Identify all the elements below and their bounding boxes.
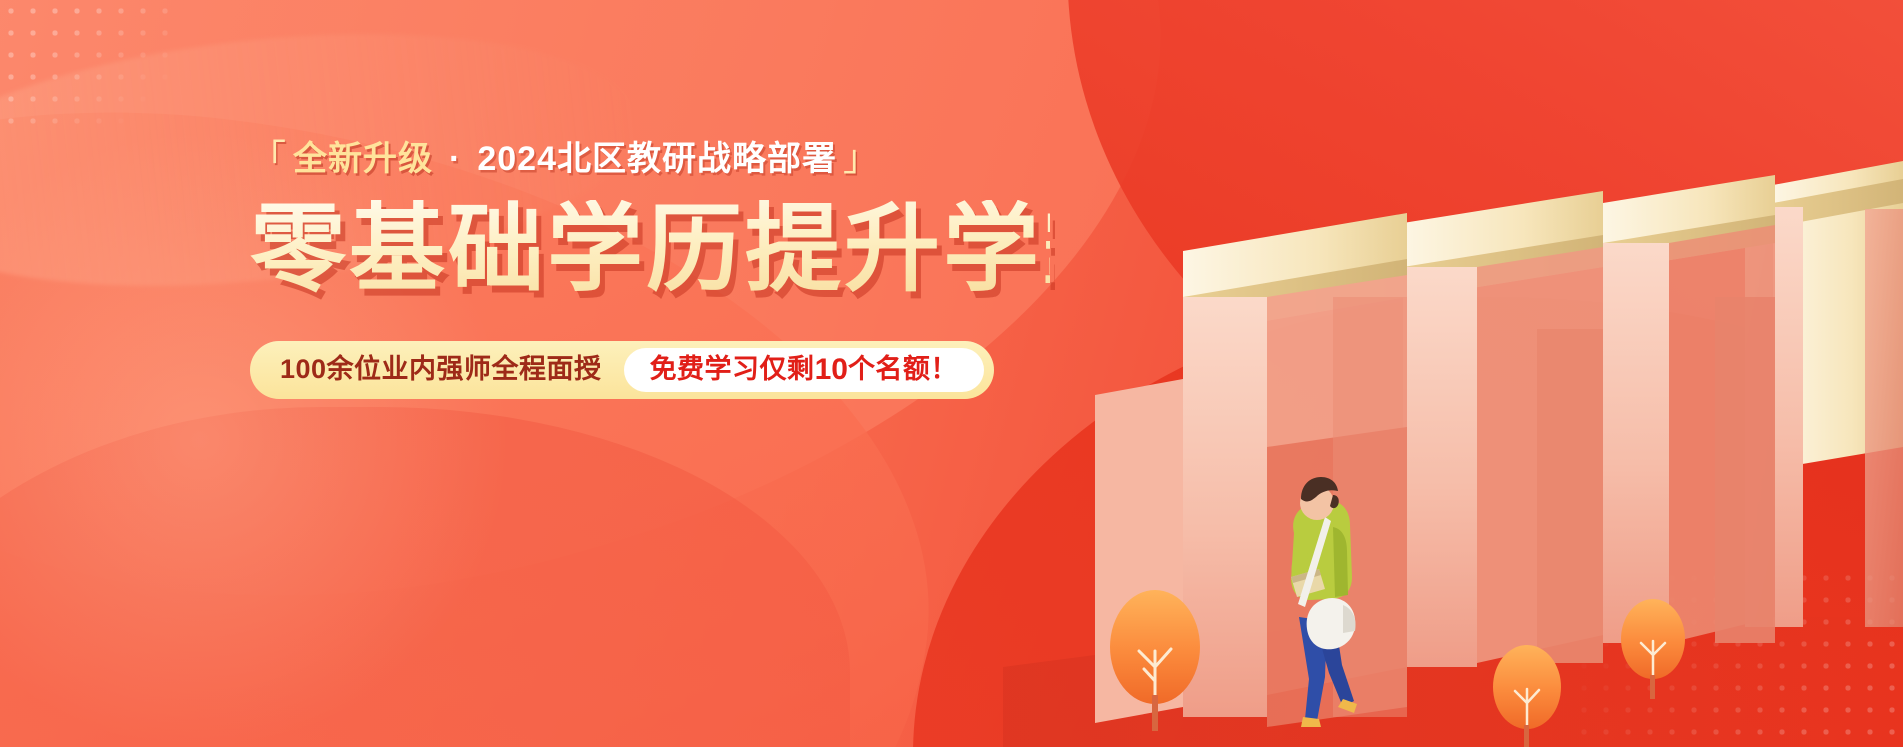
banner-subtitle: 「 全新升级 · 2024北区教研战略部署 」 [250,140,1050,176]
dot-pattern-top-left [0,0,176,128]
badge-accent-pill: 免费学习仅剩 10 个名额！ [624,348,984,392]
close-bracket: 」 [843,140,880,176]
badge-right-suffix: 个名额！ [848,356,958,383]
open-bracket: 「 [250,140,287,176]
promo-badge: 100余位业内强师全程面授 免费学习仅剩 10 个名额！ [250,341,994,399]
banner-content: 「 全新升级 · 2024北区教研战略部署 」 零基础学历提升学霸班 100余位… [250,140,1050,399]
subtitle-plain: 2024北区教研战略部署 [477,142,837,176]
badge-right-prefix: 免费学习仅剩 [650,356,815,383]
badge-right-number: 10 [815,355,848,385]
archway-2 [1403,191,1603,667]
badge-left-text: 100余位业内强师全程面授 [280,356,624,383]
subtitle-highlight: 全新升级 [293,142,433,176]
subtitle-separator: · [439,142,471,176]
archway-3 [1603,175,1775,643]
promo-banner: 「 全新升级 · 2024北区教研战略部署 」 零基础学历提升学霸班 100余位… [0,0,1903,747]
page-title: 零基础学历提升学霸班 [250,200,1050,301]
